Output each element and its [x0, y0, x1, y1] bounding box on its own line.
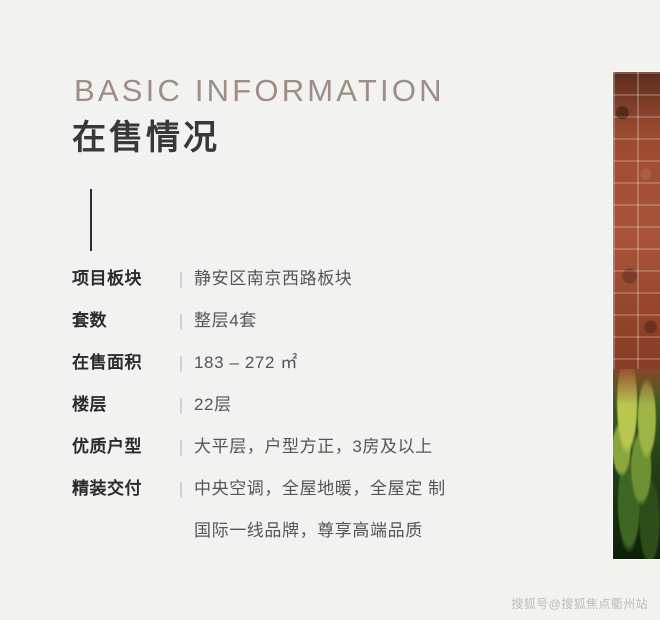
info-list: 项目板块 | 静安区南京西路板块 套数 | 整层4套 在售面积 | 183 – …	[72, 266, 542, 518]
page-title-english: BASIC INFORMATION	[74, 72, 445, 110]
info-row: 优质户型 | 大平层，户型方正，3房及以上	[72, 434, 542, 476]
info-label: 精装交付	[72, 476, 168, 502]
info-row: 精装交付 | 中央空调，全屋地暖，全屋定 制 国际一线品牌，尊享高端品质	[72, 476, 542, 518]
brick-wall-photo	[613, 72, 660, 559]
brick-texture	[613, 72, 660, 412]
info-value: 大平层，户型方正，3房及以上	[194, 434, 542, 460]
foliage-texture	[613, 369, 660, 559]
page-title-chinese: 在售情况	[72, 116, 220, 160]
info-value-line2: 国际一线品牌，尊享高端品质	[194, 518, 542, 544]
watermark-text: 搜狐号@搜狐焦点衢州站	[511, 596, 648, 612]
info-value: 中央空调，全屋地暖，全屋定 制 国际一线品牌，尊享高端品质	[194, 476, 542, 544]
info-separator: |	[168, 266, 194, 292]
info-value: 整层4套	[194, 308, 542, 334]
foliage-blend	[613, 369, 660, 405]
info-value-line1: 中央空调，全屋地暖，全屋定 制	[194, 479, 446, 498]
info-label: 套数	[72, 308, 168, 334]
title-divider-rule	[90, 189, 92, 251]
info-value: 183 – 272 ㎡	[194, 350, 542, 376]
info-label: 优质户型	[72, 434, 168, 460]
info-label: 楼层	[72, 392, 168, 418]
info-separator: |	[168, 392, 194, 418]
info-row: 项目板块 | 静安区南京西路板块	[72, 266, 542, 308]
info-label: 在售面积	[72, 350, 168, 376]
info-row: 楼层 | 22层	[72, 392, 542, 434]
info-value: 22层	[194, 392, 542, 418]
slide-root: BASIC INFORMATION 在售情况 项目板块 | 静安区南京西路板块 …	[0, 0, 660, 620]
info-separator: |	[168, 434, 194, 460]
info-row: 在售面积 | 183 – 272 ㎡	[72, 350, 542, 392]
info-value: 静安区南京西路板块	[194, 266, 542, 292]
info-label: 项目板块	[72, 266, 168, 292]
info-row: 套数 | 整层4套	[72, 308, 542, 350]
info-separator: |	[168, 350, 194, 376]
info-separator: |	[168, 308, 194, 334]
info-separator: |	[168, 476, 194, 502]
